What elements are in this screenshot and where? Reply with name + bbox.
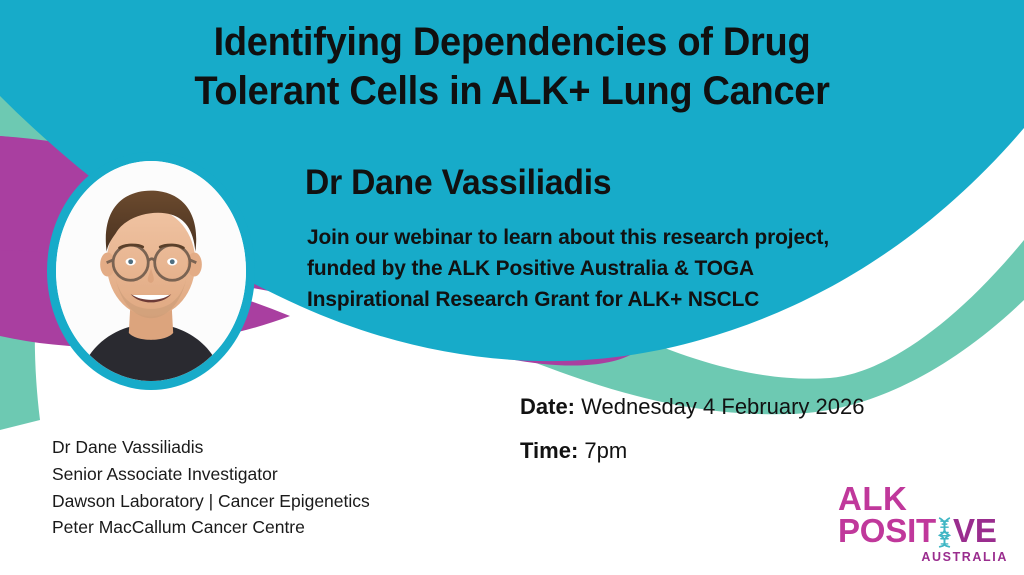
- title-line-2: Tolerant Cells in ALK+ Lung Cancer: [26, 67, 999, 116]
- portrait-photo: [56, 161, 246, 381]
- speaker-portrait: [47, 152, 255, 390]
- logo-alk-text: ALK: [838, 483, 1010, 514]
- webinar-poster: Identifying Dependencies of Drug Toleran…: [0, 0, 1024, 575]
- speaker-name: Dr Dane Vassiliadis: [305, 162, 611, 204]
- blurb-line-2: funded by the ALK Positive Australia & T…: [307, 253, 986, 284]
- speaker-credentials: Dr Dane Vassiliadis Senior Associate Inv…: [52, 434, 370, 541]
- logo-positive-text: POSIT VE: [838, 514, 1010, 548]
- blurb-line-3: Inspirational Research Grant for ALK+ NS…: [307, 284, 986, 315]
- logo-positive-part2: VE: [953, 512, 997, 549]
- event-datetime: Date: Wednesday 4 February 2026 Time: 7p…: [520, 396, 864, 484]
- title-line-1: Identifying Dependencies of Drug: [26, 18, 999, 67]
- logo-positive-part1: POSIT: [838, 512, 936, 549]
- event-time-row: Time: 7pm: [520, 440, 864, 462]
- event-time-label: Time:: [520, 438, 578, 463]
- credential-line-2: Senior Associate Investigator: [52, 461, 370, 488]
- alk-positive-australia-logo: ALK POSIT VE AUSTRALIA: [838, 483, 1010, 564]
- webinar-blurb: Join our webinar to learn about this res…: [307, 222, 1007, 315]
- event-date-label: Date:: [520, 394, 575, 419]
- logo-australia-tagline: AUSTRALIA: [838, 550, 1010, 564]
- event-time-value: 7pm: [584, 438, 627, 463]
- credential-line-4: Peter MacCallum Cancer Centre: [52, 514, 370, 541]
- event-date-value: Wednesday 4 February 2026: [581, 394, 864, 419]
- page-title: Identifying Dependencies of Drug Toleran…: [0, 18, 1024, 116]
- credential-line-3: Dawson Laboratory | Cancer Epigenetics: [52, 488, 370, 515]
- dna-helix-icon: [935, 517, 954, 548]
- blurb-line-1: Join our webinar to learn about this res…: [307, 222, 986, 253]
- credential-line-1: Dr Dane Vassiliadis: [52, 434, 370, 461]
- event-date-row: Date: Wednesday 4 February 2026: [520, 396, 864, 418]
